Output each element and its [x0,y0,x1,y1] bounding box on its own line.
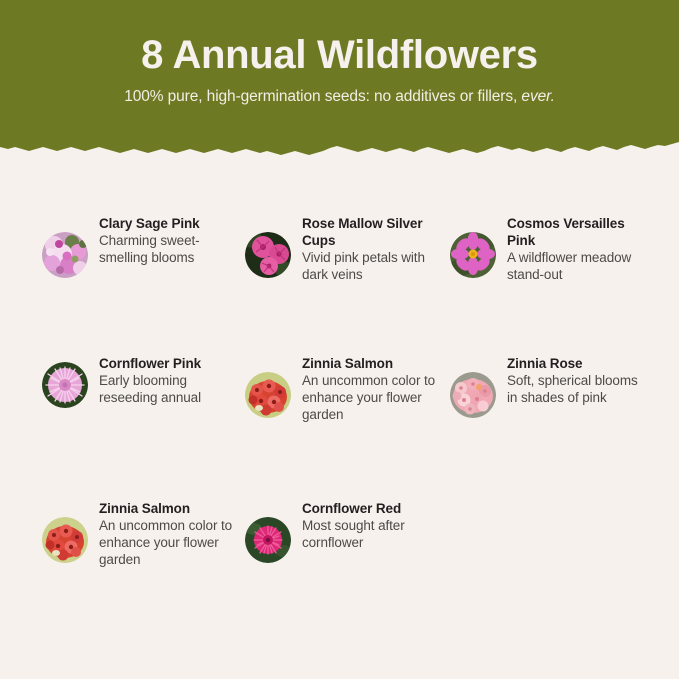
clary-sage-pink-thumbnail-icon [42,232,88,278]
page-header: 8 Annual Wildflowers 100% pure, high-ger… [0,0,679,160]
list-item[interactable]: Cosmos Versailles Pink A wildflower mead… [450,214,642,283]
zinnia-rose-thumbnail-icon [450,372,496,418]
cosmos-versailles-pink-thumbnail-icon [450,232,496,278]
item-text-block: Zinnia Salmon An uncommon color to enhan… [88,499,245,568]
item-text-block: Zinnia Salmon An uncommon color to enhan… [291,354,450,423]
list-row: Clary Sage Pink Charming sweet-smelling … [42,214,642,354]
cornflower-red-thumbnail-icon [245,517,291,563]
page-subtitle-main: 100% pure, high-germination seeds: no ad… [124,88,521,105]
list-item[interactable]: Clary Sage Pink Charming sweet-smelling … [42,214,245,278]
item-description: Vivid pink petals with dark veins [302,249,450,283]
page-title: 8 Annual Wildflowers [141,34,538,76]
item-text-block: Cornflower Pink Early blooming reseeding… [88,354,245,406]
list-item[interactable]: Rose Mallow Silver Cups Vivid pink petal… [245,214,450,283]
list-item[interactable]: Cornflower Pink Early blooming reseeding… [42,354,245,408]
item-description: Early blooming reseeding annual [99,372,245,406]
page-subtitle-emphasis: ever. [521,88,554,105]
list-item[interactable]: Cornflower Red Most sought after cornflo… [245,499,450,563]
item-title: Zinnia Salmon [302,355,450,372]
rose-mallow-silver-cups-thumbnail-icon [245,232,291,278]
item-description: An uncommon color to enhance your flower… [99,517,245,568]
item-text-block: Cosmos Versailles Pink A wildflower mead… [496,214,642,283]
item-title: Zinnia Salmon [99,500,245,517]
item-text-block: Cornflower Red Most sought after cornflo… [291,499,450,551]
page-subtitle: 100% pure, high-germination seeds: no ad… [124,76,555,106]
item-title: Zinnia Rose [507,355,642,372]
item-text-block: Clary Sage Pink Charming sweet-smelling … [88,214,245,266]
list-row: Cornflower Pink Early blooming reseeding… [42,354,642,499]
list-row: Zinnia Salmon An uncommon color to enhan… [42,499,642,619]
item-title: Clary Sage Pink [99,215,245,232]
item-description: An uncommon color to enhance your flower… [302,372,450,423]
list-item[interactable]: Zinnia Rose Soft, spherical blooms in sh… [450,354,642,418]
item-title: Rose Mallow Silver Cups [302,215,450,249]
item-title: Cornflower Pink [99,355,245,372]
zinnia-salmon-thumbnail-icon [245,372,291,418]
zinnia-salmon-thumbnail-icon [42,517,88,563]
item-description: Charming sweet-smelling blooms [99,232,245,266]
wildflower-list: Clary Sage Pink Charming sweet-smelling … [42,214,642,619]
item-description: Soft, spherical blooms in shades of pink [507,372,642,406]
item-title: Cornflower Red [302,500,450,517]
list-item[interactable]: Zinnia Salmon An uncommon color to enhan… [42,499,245,568]
cornflower-pink-thumbnail-icon [42,362,88,408]
item-text-block: Rose Mallow Silver Cups Vivid pink petal… [291,214,450,283]
item-description: A wildflower meadow stand-out [507,249,642,283]
item-title: Cosmos Versailles Pink [507,215,642,249]
item-description: Most sought after cornflower [302,517,450,551]
list-item[interactable]: Zinnia Salmon An uncommon color to enhan… [245,354,450,423]
item-text-block: Zinnia Rose Soft, spherical blooms in sh… [496,354,642,406]
